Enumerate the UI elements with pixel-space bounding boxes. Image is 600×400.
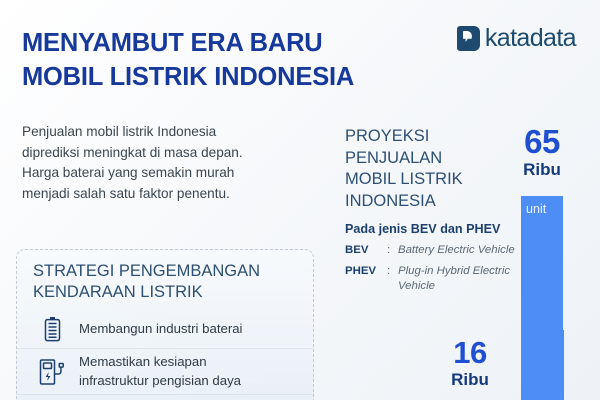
list-item-label: Membangun industri baterai [79,320,242,339]
intro-line: menjadi salah satu faktor penentu. [22,184,322,205]
chart-value-number: 16 [432,336,508,369]
chart-unit-label: unit [521,196,563,216]
chart-value-suffix: Ribu [504,159,580,181]
charging-station-icon [39,357,65,387]
list-item: Membangun industri baterai [17,310,313,348]
legend-item-phev: PHEV : Plug-in Hybrid Electric Vehicle [345,264,520,295]
projection-heading: PROYEKSI PENJUALAN MOBIL LISTRIK INDONES… [345,126,463,212]
legend-item-bev: BEV : Battery Electric Vehicle [345,243,520,259]
legend-colon: : [387,243,396,259]
intro-line: Penjualan mobil listrik Indonesia [22,122,322,143]
strategy-title-line-1: STRATEGI PENGEMBANGAN [33,261,313,282]
strategy-item-line: Memastikan kesiapan [79,353,241,372]
projection-subtitle: Pada jenis BEV dan PHEV [345,222,500,236]
chart-value-16-ribu: 16 Ribu [432,336,508,391]
legend-definition: Plug-in Hybrid Electric Vehicle [398,264,520,295]
legend-colon: : [387,264,396,295]
projection-heading-line: PENJUALAN [345,148,463,170]
projection-heading-line: PROYEKSI [345,126,463,148]
legend: BEV : Battery Electric Vehicle PHEV : Pl… [345,243,520,300]
list-item-label: Memastikan kesiapan infrastruktur pengis… [79,353,241,390]
chart-bar-16-ribu [524,330,564,400]
legend-abbr: BEV [345,243,385,259]
header: MENYAMBUT ERA BARU MOBIL LISTRIK INDONES… [0,0,600,112]
strategy-title-line-2: KENDARAAN LISTRIK [33,282,313,303]
page-title-line-1: MENYAMBUT ERA BARU [22,26,492,60]
projection-heading-line: INDONESIA [345,191,463,213]
list-item: Memastikan kesiapan [17,394,313,400]
strategy-item-line: Membangun industri baterai [79,320,242,339]
chart-value-number: 65 [504,124,580,159]
list-item: Memastikan kesiapan infrastruktur pengis… [17,348,313,394]
strategy-title: STRATEGI PENGEMBANGAN KENDARAAN LISTRIK [17,250,313,303]
intro-line: Harga baterai yang semakin murah [22,163,322,184]
brand-name: katadata [485,26,576,51]
intro-paragraph: Penjualan mobil listrik Indonesia dipred… [22,122,322,204]
strategy-list: Membangun industri baterai Memastikan ke… [17,310,313,400]
battery-icon [39,314,65,344]
intro-line: diprediksi meningkat di masa depan. [22,143,322,164]
legend-definition: Battery Electric Vehicle [398,243,515,259]
chart-value-suffix: Ribu [432,369,508,391]
chart-value-65-ribu: 65 Ribu [504,124,580,181]
projection-heading-line: MOBIL LISTRIK [345,169,463,191]
d-logo-icon [457,26,480,51]
page-title-line-2: MOBIL LISTRIK INDONESIA [22,60,492,94]
strategy-item-line: infrastruktur pengisian daya [79,372,241,391]
page-title: MENYAMBUT ERA BARU MOBIL LISTRIK INDONES… [22,26,492,94]
legend-abbr: PHEV [345,264,385,295]
brand-logo: katadata [457,26,576,51]
strategy-card: STRATEGI PENGEMBANGAN KENDARAAN LISTRIK … [16,249,314,400]
